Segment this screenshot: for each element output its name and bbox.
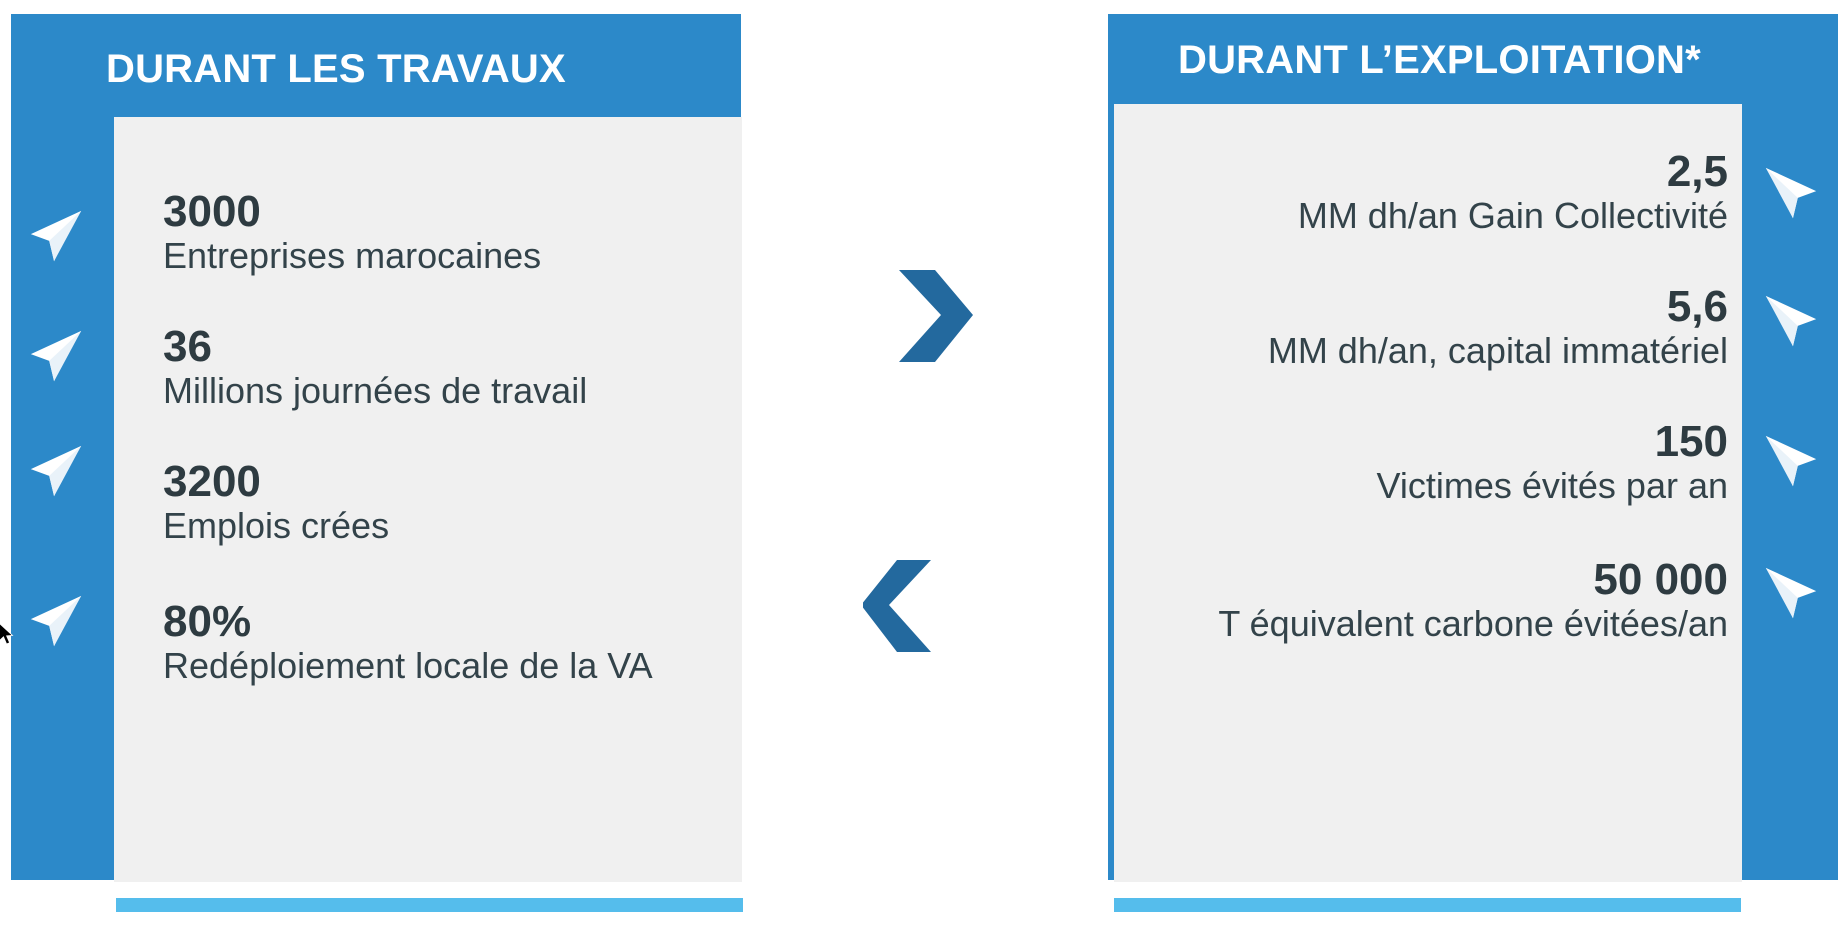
left-panel-title: DURANT LES TRAVAUX (106, 47, 726, 92)
right-panel-title: DURANT L’EXPLOITATION* (1118, 38, 1808, 83)
stat-label: T équivalent carbone évitées/an (1128, 605, 1728, 644)
stat-item: 5,6 MM dh/an, capital immatériel (1128, 285, 1728, 371)
paper-plane-icon (25, 440, 87, 502)
stat-label: Entreprises marocaines (163, 237, 723, 276)
stat-value: 2,5 (1128, 150, 1728, 195)
stat-value: 5,6 (1128, 285, 1728, 330)
stat-label: MM dh/an Gain Collectivité (1128, 197, 1728, 236)
stat-label: Emplois crées (163, 507, 723, 546)
paper-plane-icon (1760, 290, 1822, 352)
stat-item: 3000 Entreprises marocaines (163, 190, 723, 276)
stat-value: 3000 (163, 190, 723, 235)
stat-label: MM dh/an, capital immatériel (1128, 332, 1728, 371)
stat-value: 150 (1128, 420, 1728, 465)
right-panel: DURANT L’EXPLOITATION* 2,5 MM dh/an Gain… (1088, 0, 1848, 931)
stat-item: 80% Redéploiement locale de la VA (163, 600, 723, 686)
paper-plane-icon (1760, 562, 1822, 624)
stat-label: Victimes évités par an (1128, 467, 1728, 506)
stat-value: 50 000 (1128, 558, 1728, 603)
paper-plane-icon (1760, 430, 1822, 492)
stat-item: 150 Victimes évités par an (1128, 420, 1728, 506)
stat-item: 2,5 MM dh/an Gain Collectivité (1128, 150, 1728, 236)
paper-plane-icon (1760, 162, 1822, 224)
stat-label: Millions journées de travail (163, 372, 723, 411)
left-panel-accent-bar (116, 898, 743, 912)
mouse-pointer-icon (0, 622, 16, 648)
chevron-right-icon (893, 268, 977, 369)
paper-plane-icon (25, 590, 87, 652)
left-panel: DURANT LES TRAVAUX 3000 Entreprises maro… (0, 0, 760, 931)
stat-value: 36 (163, 325, 723, 370)
right-panel-accent-bar (1114, 898, 1741, 912)
stat-value: 80% (163, 600, 723, 645)
stat-value: 3200 (163, 460, 723, 505)
paper-plane-icon (25, 205, 87, 267)
stat-item: 36 Millions journées de travail (163, 325, 723, 411)
stat-item: 3200 Emplois crées (163, 460, 723, 546)
chevron-left-icon (863, 558, 937, 659)
stat-item: 50 000 T équivalent carbone évitées/an (1128, 558, 1728, 644)
stat-label: Redéploiement locale de la VA (163, 647, 723, 686)
paper-plane-icon (25, 325, 87, 387)
